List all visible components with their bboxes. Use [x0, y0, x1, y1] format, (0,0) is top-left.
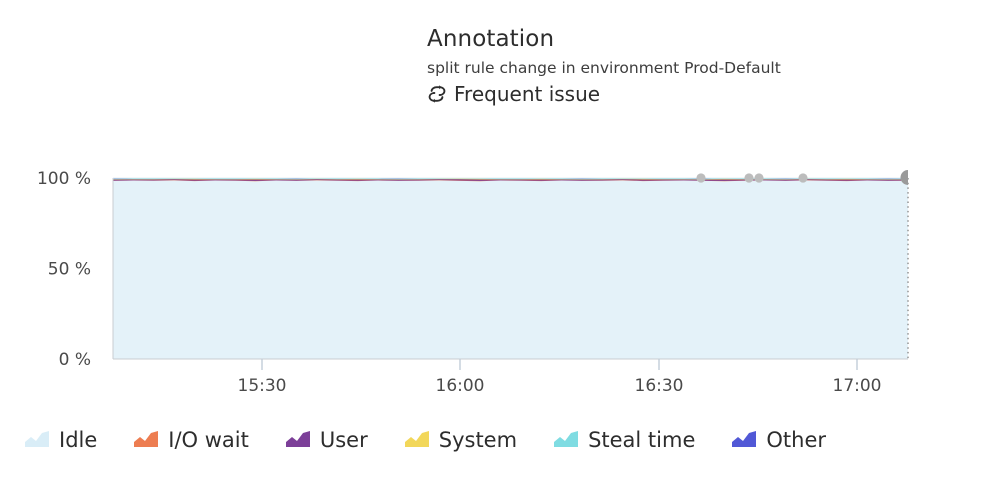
annotation-marker[interactable] — [798, 173, 807, 182]
legend-item-label: System — [439, 428, 517, 452]
annotation-marker[interactable] — [754, 173, 763, 182]
area-chart-icon — [553, 430, 579, 450]
y-axis-tick-labels: 0 %50 %100 % — [37, 169, 91, 370]
chart-series-group[interactable] — [113, 178, 908, 359]
legend-item-label: Steal time — [588, 428, 695, 452]
legend-item-label: Idle — [59, 428, 97, 452]
annotation-status: Frequent issue — [427, 81, 947, 107]
area-chart-icon — [404, 430, 430, 450]
legend-item-label: User — [320, 428, 368, 452]
x-tick-label: 16:00 — [436, 376, 485, 396]
y-tick-label: 50 % — [48, 260, 91, 280]
area-chart-icon — [133, 430, 159, 450]
x-axis-tick-labels: 15:3016:0016:3017:00 — [238, 359, 882, 396]
legend-item[interactable]: Other — [731, 428, 826, 452]
annotation-status-label: Frequent issue — [454, 81, 600, 107]
legend-item-label: Other — [766, 428, 826, 452]
repeat-icon — [427, 84, 447, 104]
chart-legend: IdleI/O waitUserSystemSteal timeOther — [24, 428, 1008, 452]
x-tick-label: 16:30 — [635, 376, 684, 396]
legend-item[interactable]: I/O wait — [133, 428, 249, 452]
y-tick-label: 0 % — [59, 350, 91, 370]
annotation-tooltip: Annotation split rule change in environm… — [427, 24, 947, 107]
legend-item[interactable]: Steal time — [553, 428, 695, 452]
annotation-title: Annotation — [427, 24, 947, 54]
annotation-subtitle: split rule change in environment Prod-De… — [427, 56, 947, 80]
area-chart-icon — [731, 430, 757, 450]
legend-item-label: I/O wait — [168, 428, 249, 452]
area-chart-icon — [24, 430, 50, 450]
annotation-marker[interactable] — [744, 173, 753, 182]
x-tick-label: 15:30 — [238, 376, 287, 396]
legend-item[interactable]: Idle — [24, 428, 97, 452]
annotation-marker[interactable] — [696, 173, 705, 182]
legend-item[interactable]: System — [404, 428, 517, 452]
x-tick-label: 17:00 — [833, 376, 882, 396]
legend-item[interactable]: User — [285, 428, 368, 452]
y-tick-label: 100 % — [37, 169, 91, 189]
area-chart-icon — [285, 430, 311, 450]
